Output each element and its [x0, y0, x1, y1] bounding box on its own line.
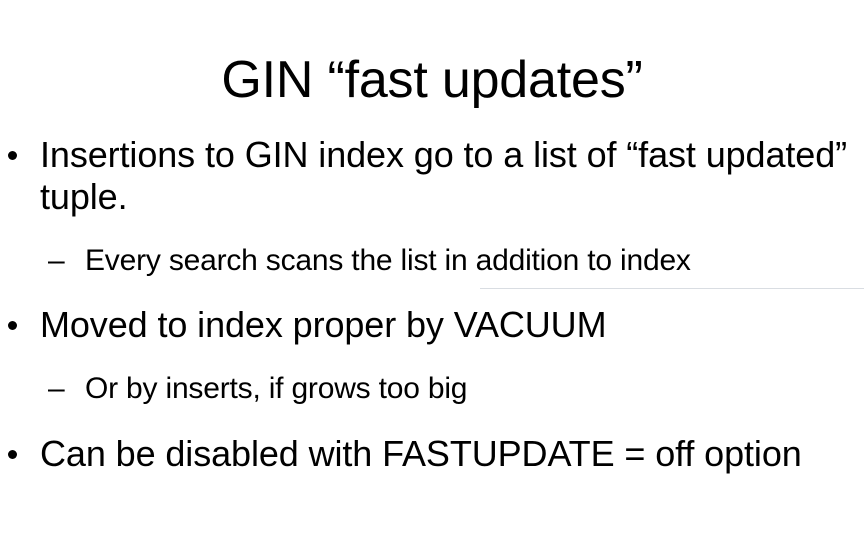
bullet-dash-icon: –: [48, 371, 78, 407]
slide-body-bullet-list: Insertions to GIN index go to a list of …: [0, 134, 864, 475]
scan-line-artifact: [480, 288, 864, 289]
bullet-dot-icon: [6, 433, 30, 475]
sub-bullet-item-2: – Or by inserts, if grows too big: [0, 371, 864, 407]
bullet-dot-icon: [6, 304, 30, 346]
bullet-item-3: Can be disabled with FASTUPDATE = off op…: [0, 433, 864, 475]
bullet-text: Can be disabled with FASTUPDATE = off op…: [40, 433, 858, 475]
sub-bullet-item-1: – Every search scans the list in additio…: [0, 243, 864, 279]
bullet-item-1: Insertions to GIN index go to a list of …: [0, 134, 864, 218]
presentation-slide: GIN “fast updates” Insertions to GIN ind…: [0, 0, 864, 536]
bullet-text: Moved to index proper by VACUUM: [40, 304, 858, 346]
bullet-text: Insertions to GIN index go to a list of …: [40, 134, 858, 218]
bullet-dash-icon: –: [48, 243, 78, 279]
slide-title: GIN “fast updates”: [0, 49, 864, 111]
bullet-item-2: Moved to index proper by VACUUM: [0, 304, 864, 346]
sub-bullet-text: Or by inserts, if grows too big: [85, 371, 860, 407]
bullet-dot-icon: [6, 134, 30, 176]
sub-bullet-text: Every search scans the list in addition …: [85, 243, 860, 279]
